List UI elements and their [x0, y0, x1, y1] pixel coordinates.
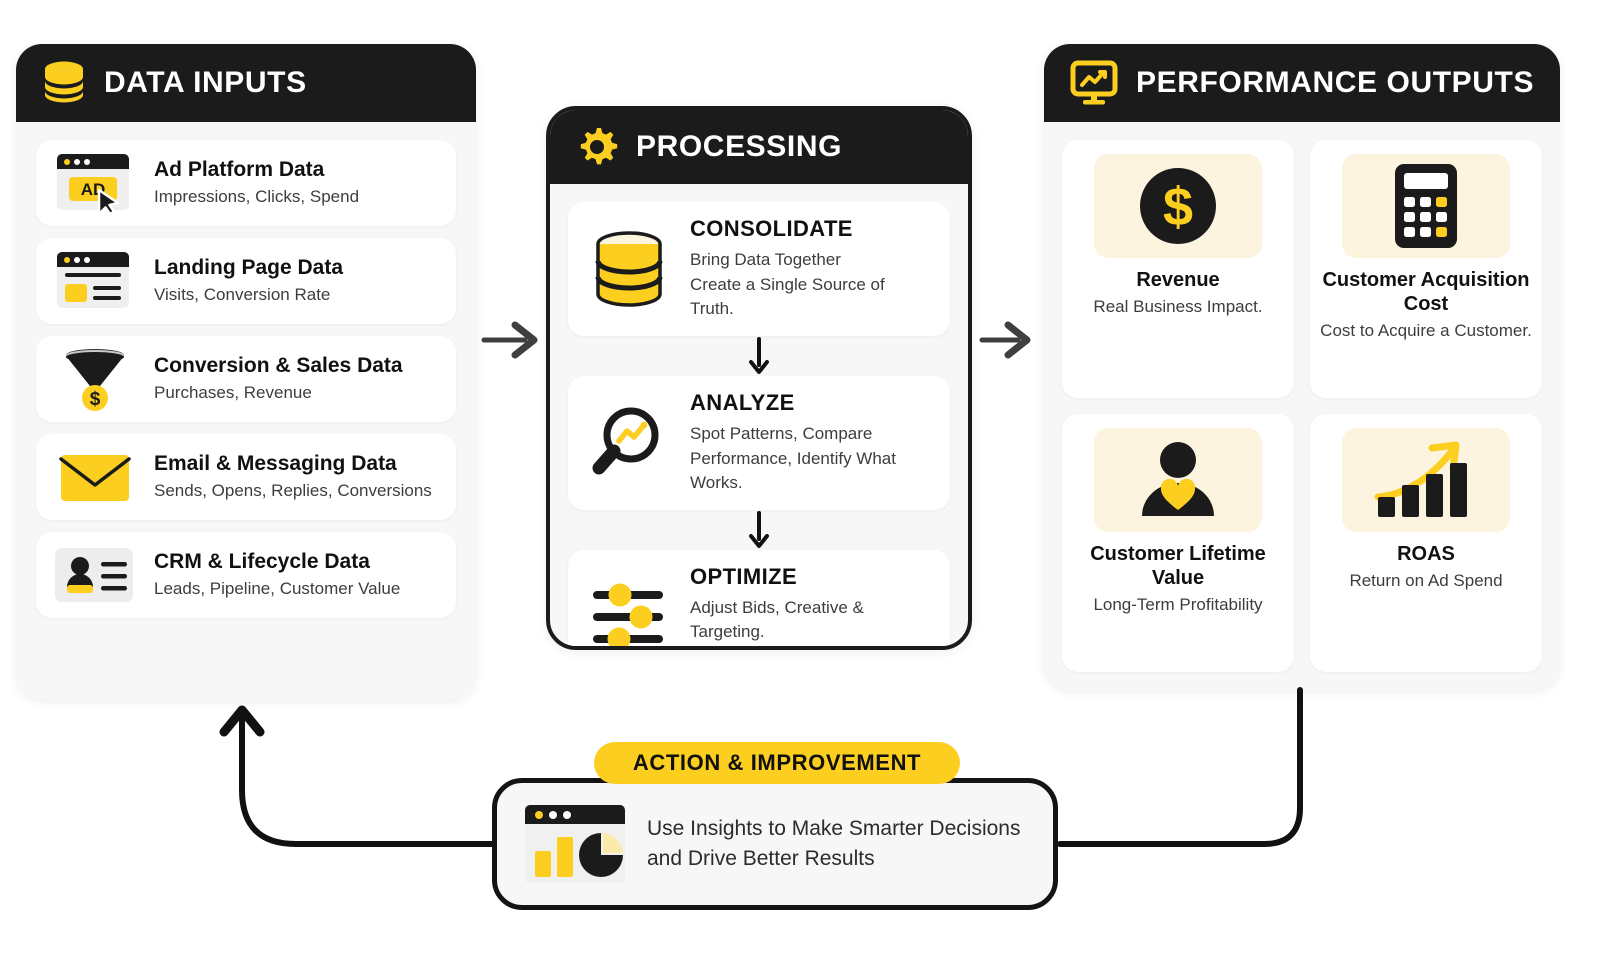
input-item-subtitle: Leads, Pipeline, Customer Value	[154, 578, 400, 600]
metric-name: Customer Acquisition Cost	[1320, 268, 1532, 316]
data-inputs-panel: DATA INPUTS AD Ad Platform Data Impr	[16, 44, 476, 700]
dollar-coin-icon: $	[1094, 154, 1262, 258]
metric-desc: Real Business Impact.	[1093, 296, 1262, 318]
process-step-analyze[interactable]: ANALYZE Spot Patterns, Compare Performan…	[568, 376, 950, 510]
metric-desc: Cost to Acquire a Customer.	[1320, 320, 1532, 342]
input-item-crm-lifecycle[interactable]: CRM & Lifecycle Data Leads, Pipeline, Cu…	[36, 532, 456, 618]
action-improvement-badge: ACTION & IMPROVEMENT	[594, 742, 960, 784]
action-improvement-panel[interactable]: Use Insights to Make Smarter Decisions a…	[492, 778, 1058, 910]
growth-chart-icon	[1342, 428, 1510, 532]
database-icon	[586, 230, 672, 308]
metric-name: ROAS	[1397, 542, 1455, 566]
performance-outputs-title: PERFORMANCE OUTPUTS	[1136, 66, 1534, 100]
metric-card-clv[interactable]: Customer Lifetime Value Long-Term Profit…	[1062, 414, 1294, 672]
calculator-icon	[1342, 154, 1510, 258]
person-heart-icon	[1094, 428, 1262, 532]
process-step-consolidate[interactable]: CONSOLIDATE Bring Data Together Create a…	[568, 202, 950, 336]
action-improvement-badge-label: ACTION & IMPROVEMENT	[633, 750, 921, 776]
arrow-down-icon	[568, 510, 950, 550]
metric-name: Revenue	[1136, 268, 1219, 292]
infographic-canvas: DATA INPUTS AD Ad Platform Data Impr	[0, 0, 1604, 980]
input-item-landing-page[interactable]: Landing Page Data Visits, Conversion Rat…	[36, 238, 456, 324]
processing-panel: PROCESSING CONSOLIDATE Bring Data Togeth…	[546, 106, 972, 650]
process-step-title: CONSOLIDATE	[690, 216, 932, 242]
process-step-line1: Adjust Bids, Creative & Targeting.	[690, 596, 932, 645]
browser-page-icon	[52, 250, 138, 312]
magnifier-chart-icon	[586, 404, 672, 482]
metric-grid: $ Revenue Real Business Impact.	[1062, 140, 1542, 672]
input-item-email-messaging[interactable]: Email & Messaging Data Sends, Opens, Rep…	[36, 434, 456, 520]
process-step-line2: Create a Single Source of Truth.	[690, 273, 932, 322]
input-item-subtitle: Visits, Conversion Rate	[154, 284, 343, 306]
metric-desc: Return on Ad Spend	[1349, 570, 1502, 592]
input-item-title: Email & Messaging Data	[154, 452, 432, 476]
data-inputs-title: DATA INPUTS	[104, 66, 307, 100]
sliders-icon	[586, 578, 672, 650]
process-step-line2: Performance, Identify What Works.	[690, 447, 932, 496]
input-item-title: CRM & Lifecycle Data	[154, 550, 400, 574]
processing-header: PROCESSING	[550, 110, 968, 184]
input-item-ad-platform[interactable]: AD Ad Platform Data Impressions, Clicks,…	[36, 140, 456, 226]
browser-ad-icon: AD	[52, 152, 138, 214]
input-item-subtitle: Impressions, Clicks, Spend	[154, 186, 359, 208]
process-step-optimize[interactable]: OPTIMIZE Adjust Bids, Creative & Targeti…	[568, 550, 950, 650]
envelope-icon	[52, 446, 138, 508]
process-step-title: OPTIMIZE	[690, 564, 932, 590]
database-icon	[42, 60, 86, 106]
processing-title: PROCESSING	[636, 130, 842, 164]
arrow-down-icon	[568, 336, 950, 376]
input-item-title: Landing Page Data	[154, 256, 343, 280]
processing-body: CONSOLIDATE Bring Data Together Create a…	[550, 184, 968, 650]
input-item-title: Conversion & Sales Data	[154, 354, 403, 378]
process-step-line2: Improve Results.	[690, 645, 932, 650]
data-inputs-body: AD Ad Platform Data Impressions, Clicks,…	[16, 122, 476, 636]
process-step-line1: Bring Data Together	[690, 248, 932, 273]
gear-icon	[576, 126, 618, 168]
arrow-inputs-to-processing	[484, 325, 534, 355]
input-item-title: Ad Platform Data	[154, 158, 359, 182]
metric-card-revenue[interactable]: $ Revenue Real Business Impact.	[1062, 140, 1294, 398]
metric-name: Customer Lifetime Value	[1072, 542, 1284, 590]
svg-text:$: $	[90, 389, 101, 410]
performance-outputs-body: $ Revenue Real Business Impact.	[1044, 122, 1560, 690]
metric-desc: Long-Term Profitability	[1093, 594, 1262, 616]
contact-card-icon	[52, 544, 138, 606]
arrow-processing-to-outputs	[982, 325, 1027, 355]
data-inputs-header: DATA INPUTS	[16, 44, 476, 122]
funnel-dollar-icon: $	[52, 348, 138, 410]
input-item-subtitle: Sends, Opens, Replies, Conversions	[154, 480, 432, 502]
action-improvement-text: Use Insights to Make Smarter Decisions a…	[647, 814, 1027, 875]
process-step-line1: Spot Patterns, Compare	[690, 422, 932, 447]
performance-outputs-panel: PERFORMANCE OUTPUTS $ Revenue Real Busin…	[1044, 44, 1560, 690]
metric-card-roas[interactable]: ROAS Return on Ad Spend	[1310, 414, 1542, 672]
metric-card-cac[interactable]: Customer Acquisition Cost Cost to Acquir…	[1310, 140, 1542, 398]
performance-outputs-header: PERFORMANCE OUTPUTS	[1044, 44, 1560, 122]
input-item-conversion-sales[interactable]: $ Conversion & Sales Data Purchases, Rev…	[36, 336, 456, 422]
svg-text:$: $	[1163, 177, 1193, 237]
dashboard-chart-icon	[523, 803, 627, 885]
process-step-title: ANALYZE	[690, 390, 932, 416]
monitor-chart-icon	[1070, 60, 1118, 106]
input-item-subtitle: Purchases, Revenue	[154, 382, 403, 404]
